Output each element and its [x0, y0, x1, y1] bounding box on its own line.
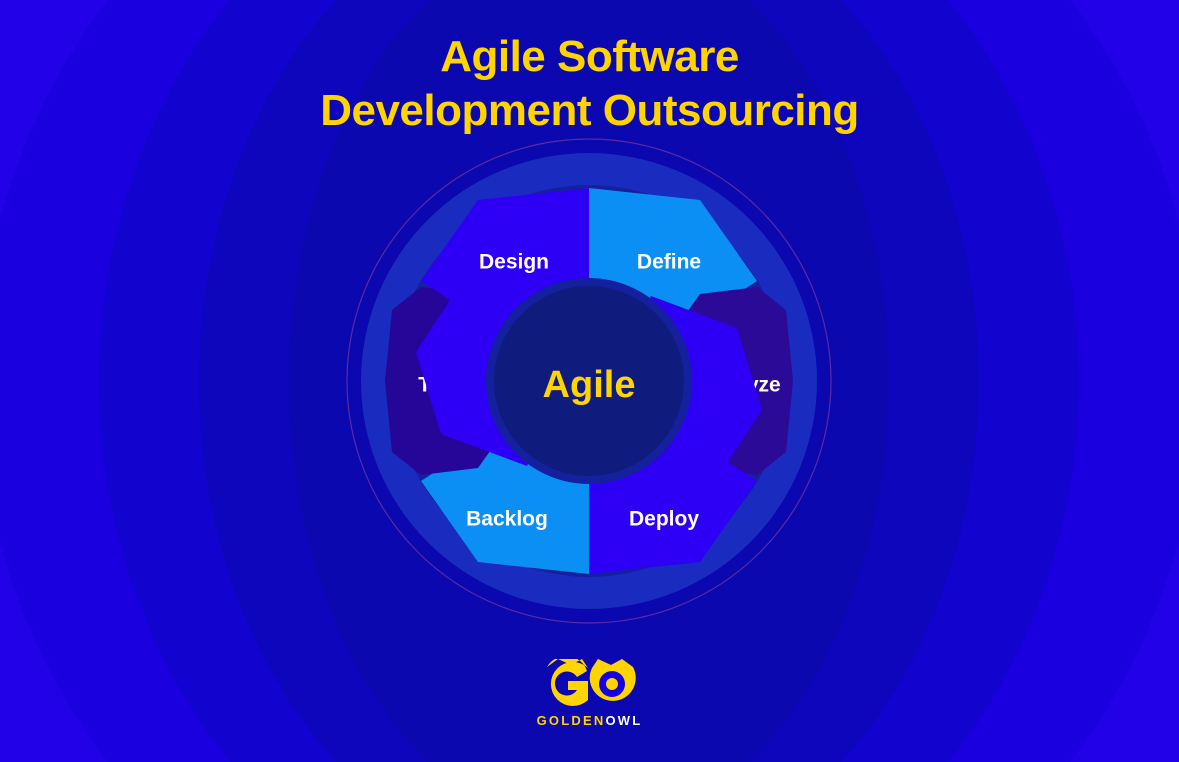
logo-word-second: OWL [605, 713, 642, 728]
segment-design-label: Design [479, 251, 549, 274]
title-line-2: Development Outsourcing [0, 84, 1179, 138]
segment-define-label: Define [637, 251, 701, 274]
logo-word-first: GOLDEN [537, 713, 606, 728]
title-line-1: Agile Software [0, 30, 1179, 84]
segment-backlog-label: Backlog [466, 508, 548, 531]
goldenowl-owl-icon [544, 659, 636, 709]
segment-deploy-label: Deploy [629, 508, 699, 531]
center-label: Agile [543, 364, 636, 406]
logo-wordmark: GOLDENOWL [0, 713, 1179, 728]
page-title: Agile Software Development Outsourcing [0, 30, 1179, 138]
brand-logo[interactable]: GOLDENOWL [0, 659, 1179, 728]
